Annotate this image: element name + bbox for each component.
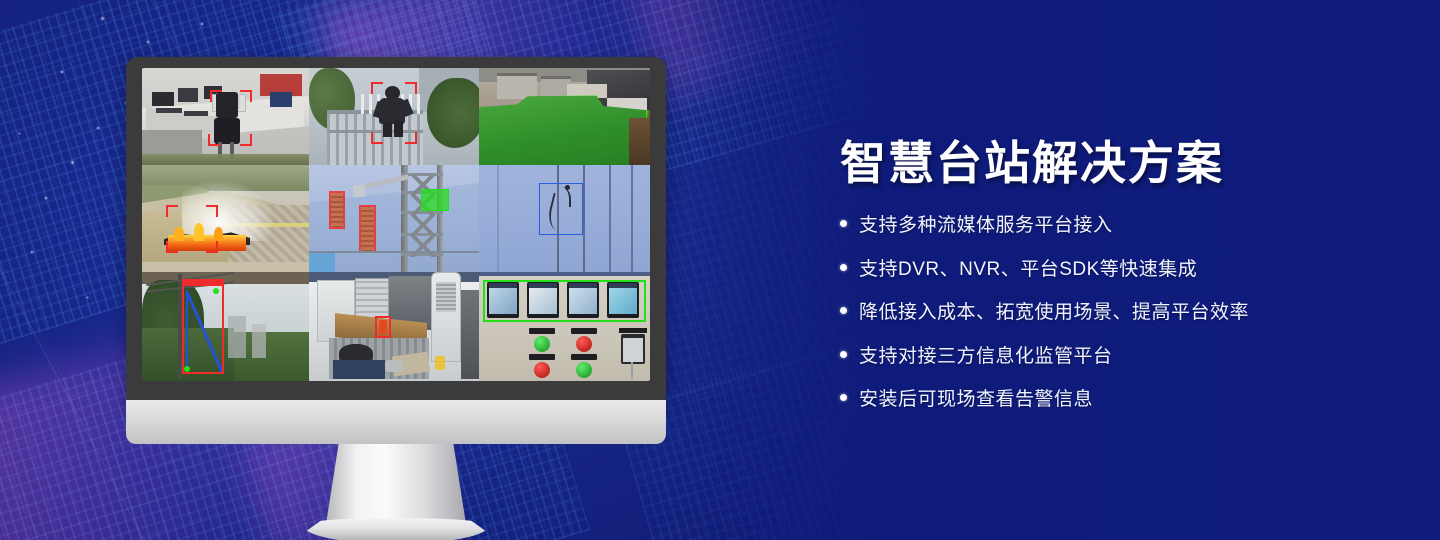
list-item: 支持多种流媒体服务平台接入 [840,210,1400,237]
feature-text: 安装后可现场查看告警信息 [859,384,1093,411]
feature-text: 支持对接三方信息化监管平台 [859,341,1113,368]
list-item: 支持对接三方信息化监管平台 [840,341,1400,368]
monitor-bezel [126,57,666,407]
bullet-dot-icon [840,220,847,227]
video-wall-grid [142,68,650,381]
feature-text: 支持DVR、NVR、平台SDK等快速集成 [859,254,1197,281]
video-tile-green-area-segmentation[interactable] [479,68,650,165]
feature-text: 降低接入成本、拓宽使用场景、提高平台效率 [859,297,1249,324]
monitor-chin [126,400,666,444]
page-title: 智慧台站解决方案 [840,140,1400,186]
video-tile-power-line-object[interactable] [479,165,650,272]
bullet-dot-icon [840,351,847,358]
video-tile-person-climbing-fence[interactable] [309,68,479,165]
feature-text: 支持多种流媒体服务平台接入 [859,210,1113,237]
video-tile-control-panel[interactable] [479,272,650,381]
video-tile-outdoor-fire-smoke[interactable] [142,165,309,272]
bullet-dot-icon [840,307,847,314]
video-tile-office-control-room[interactable] [142,68,309,165]
video-tile-utility-pole-tilt[interactable] [142,272,309,381]
monitor-screen [142,68,650,381]
list-item: 支持DVR、NVR、平台SDK等快速集成 [840,254,1400,281]
list-item: 安装后可现场查看告警信息 [840,384,1400,411]
bullet-dot-icon [840,264,847,271]
feature-list: 支持多种流媒体服务平台接入 支持DVR、NVR、平台SDK等快速集成 降低接入成… [840,210,1400,411]
marketing-copy: 智慧台站解决方案 支持多种流媒体服务平台接入 支持DVR、NVR、平台SDK等快… [840,140,1400,428]
monitor-stand-neck [326,444,466,524]
monitor-stand-base [302,518,490,540]
video-tile-transmission-tower[interactable] [309,165,479,272]
video-tile-equipment-room-worker[interactable] [309,272,479,381]
list-item: 降低接入成本、拓宽使用场景、提高平台效率 [840,297,1400,324]
solution-banner: 智慧台站解决方案 支持多种流媒体服务平台接入 支持DVR、NVR、平台SDK等快… [0,0,1440,540]
monitor-mockup [126,57,666,489]
bullet-dot-icon [840,394,847,401]
